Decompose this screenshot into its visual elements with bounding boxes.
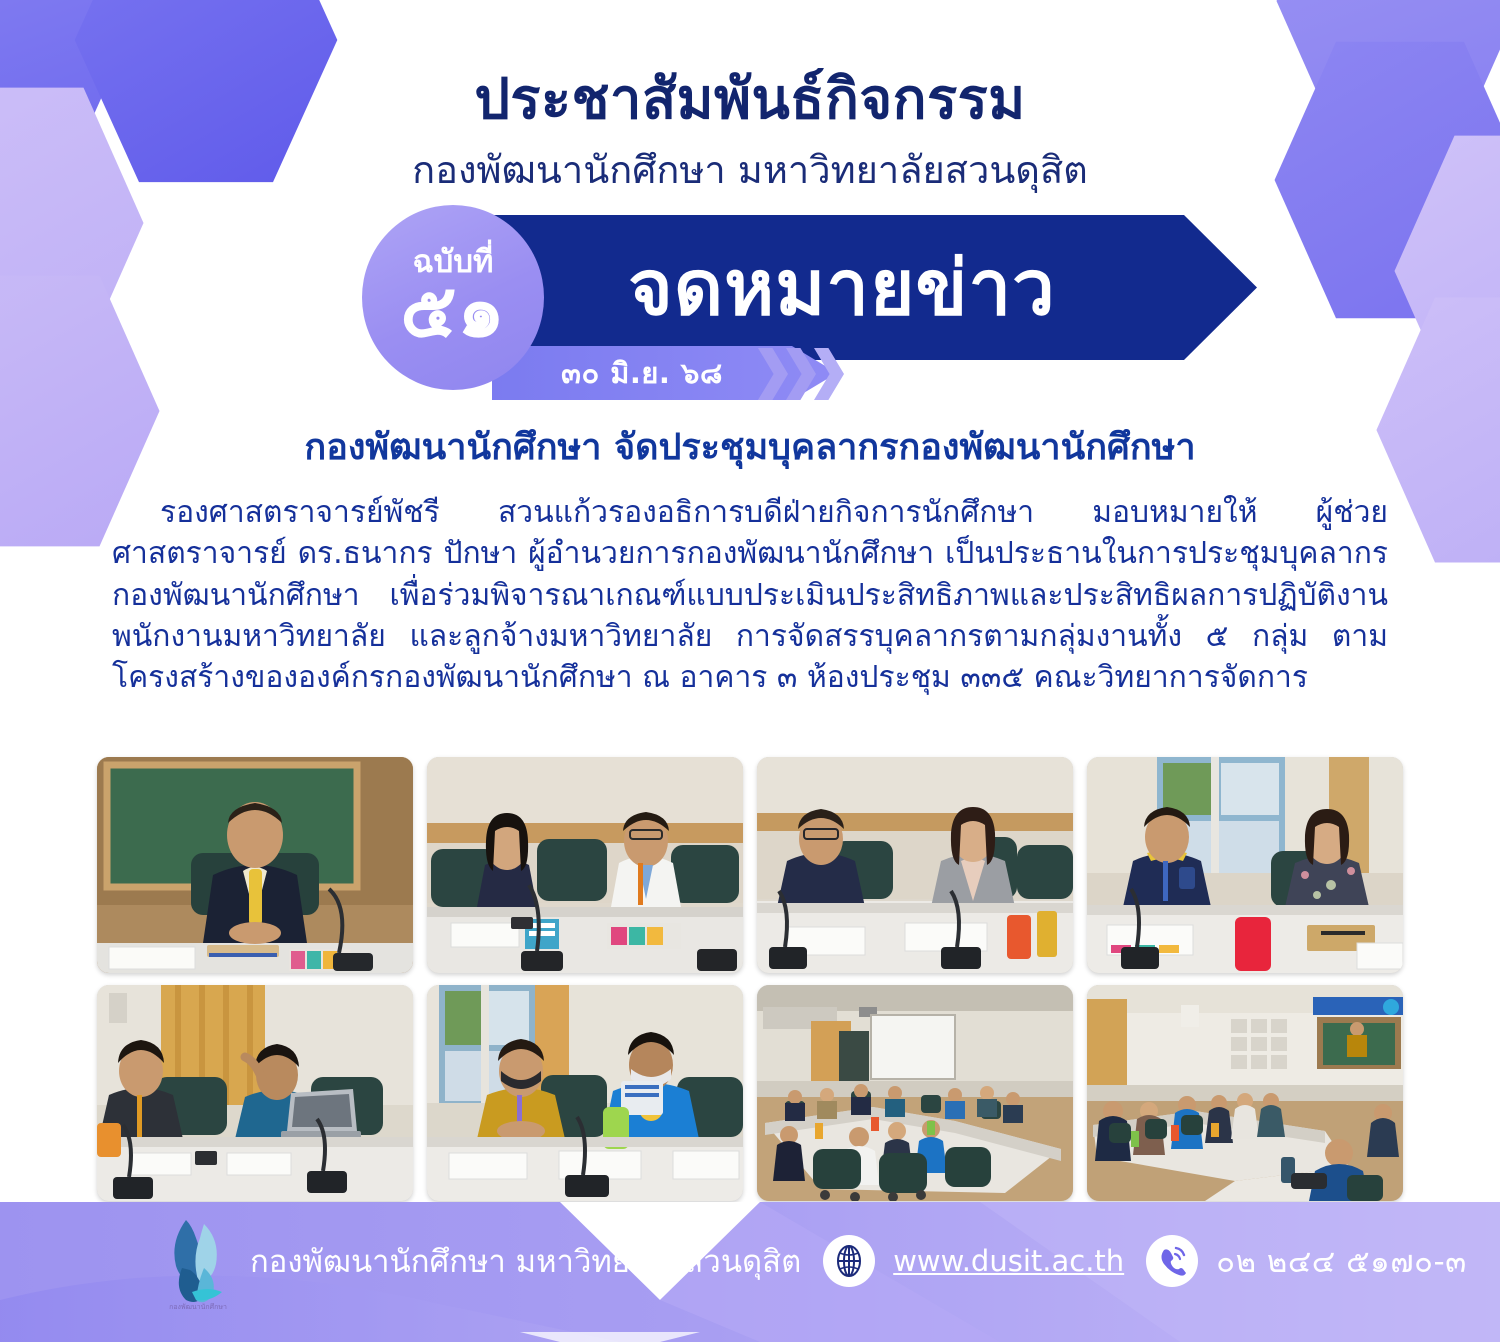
article-paragraph: รองศาสตราจารย์พัชรี สวนแก้วรองอธิการบดีฝ… [112,492,1388,699]
globe-icon [823,1235,875,1287]
gallery-photo[interactable] [97,757,413,973]
organization-logo: กองพัฒนานักศึกษา [152,1214,244,1314]
gallery-photo[interactable] [427,985,743,1201]
issue-number: ๕๑ [401,274,506,348]
issue-date: ๓๐ มิ.ย. ๖๘ [522,348,762,398]
page-title: ประชาสัมพันธ์กิจกรรม [0,72,1500,128]
footer-organization: กองพัฒนานักศึกษา มหาวิทยาลัยสวนดุสิต [250,1236,801,1286]
gallery-photo[interactable] [97,985,413,1201]
article-section: กองพัฒนานักศึกษา จัดประชุมบุคลากรกองพัฒน… [0,425,1500,699]
issue-banner: ๓๐ มิ.ย. ๖๘ จดหมายข่าว ฉบับที่ ๕๑ [362,215,1262,400]
logo-caption: กองพัฒนานักศึกษา [169,1302,227,1311]
gallery-photo[interactable] [1087,757,1403,973]
website-link[interactable]: www.dusit.ac.th [893,1244,1124,1278]
article-body: รองศาสตราจารย์พัชรี สวนแก้วรองอธิการบดีฝ… [0,492,1500,699]
gallery-photo[interactable] [1087,985,1403,1201]
article-headline: กองพัฒนานักศึกษา จัดประชุมบุคลากรกองพัฒน… [0,425,1500,472]
gallery-photo[interactable] [757,757,1073,973]
gallery-photo[interactable] [427,757,743,973]
phone-icon [1146,1235,1198,1287]
issue-number-badge: ฉบับที่ ๕๑ [362,205,544,390]
banner-title: จดหมายข่าว [522,223,1162,353]
organization-subtitle: กองพัฒนานักศึกษา มหาวิทยาลัยสวนดุสิต [0,148,1500,194]
newsletter-page: ประชาสัมพันธ์กิจกรรม กองพัฒนานักศึกษา มห… [0,0,1500,1342]
page-footer: กองพัฒนานักศึกษา กองพัฒนานักศึกษา มหาวิท… [0,1180,1500,1342]
gallery-photo[interactable] [757,985,1073,1201]
footer-contact-row: กองพัฒนานักศึกษา กองพัฒนานักศึกษา มหาวิท… [0,1228,1500,1294]
photo-gallery [97,757,1403,1201]
newsletter-header: ประชาสัมพันธ์กิจกรรม กองพัฒนานักศึกษา มห… [0,0,1500,420]
phone-number: ๐๒ ๒๔๔ ๕๑๗๐-๓ [1216,1236,1467,1286]
